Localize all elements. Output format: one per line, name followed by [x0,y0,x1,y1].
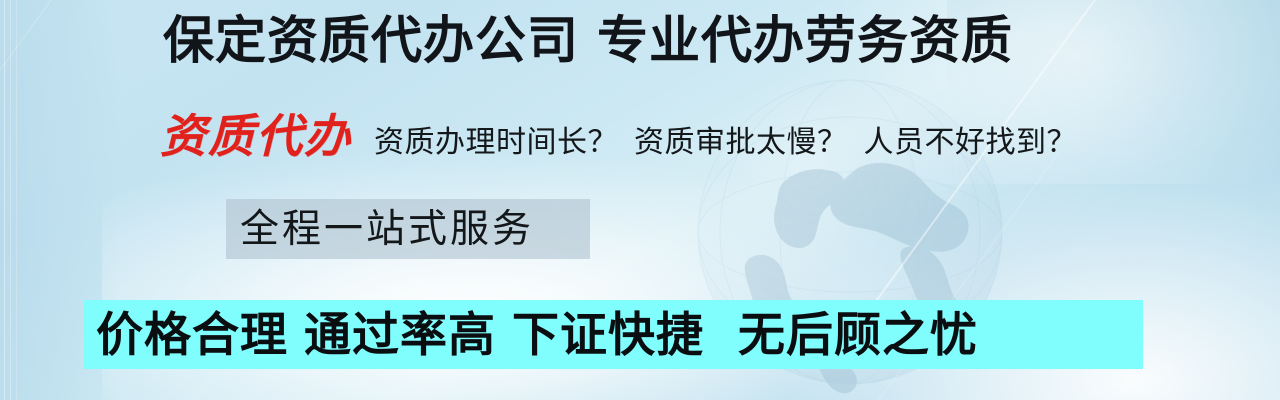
banner-headline: 保定资质代办公司专业代办劳务资质 [163,14,1013,68]
promo-banner: 保定资质代办公司专业代办劳务资质 资质代办 资质办理时间长？资质审批太慢？人员不… [0,0,1280,400]
subheadline-row: 资质代办 资质办理时间长？资质审批太慢？人员不好找到？ [160,114,1077,160]
question-3: 人员不好找到？ [864,126,1078,159]
headline-part-2: 专业代办劳务资质 [597,12,1013,69]
question-2: 资质审批太慢？ [634,126,848,159]
benefits-bar: 价格合理通过率高下证快捷无后顾之忧 [84,300,1143,369]
benefits-text: 价格合理通过率高下证快捷无后顾之忧 [84,311,978,358]
benefit-item-2: 通过率高 [304,308,496,361]
banner-content: 保定资质代办公司专业代办劳务资质 资质代办 资质办理时间长？资质审批太慢？人员不… [0,0,1280,400]
brush-tag-label: 资质代办 [160,114,352,160]
service-highlight-label: 全程一站式服务 [226,210,534,249]
question-1: 资质办理时间长？ [374,126,618,159]
benefit-item-1: 价格合理 [96,308,288,361]
headline-part-1: 保定资质代办公司 [163,12,579,69]
benefit-item-4: 无后顾之忧 [738,308,978,361]
benefit-item-3: 下证快捷 [512,308,704,361]
question-list: 资质办理时间长？资质审批太慢？人员不好找到？ [374,128,1077,158]
service-highlight-box: 全程一站式服务 [226,199,590,259]
